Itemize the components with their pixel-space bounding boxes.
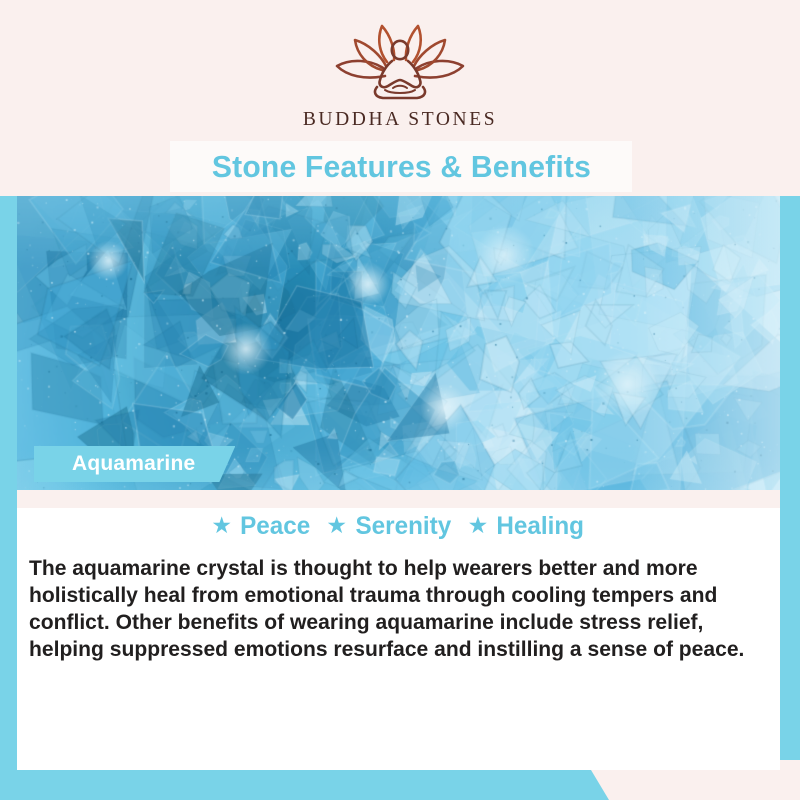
star-icon: ★ [468, 514, 489, 537]
keyword-label: Peace [240, 512, 310, 541]
decor-strip-left [0, 196, 17, 800]
header: BUDDHA STONES Stone Features & Benefits [0, 0, 800, 196]
stone-name-label: Aquamarine [72, 452, 195, 476]
keyword-label: Healing [497, 512, 585, 541]
stone-name-banner: Aquamarine [34, 446, 235, 482]
keyword-item-peace: ★ Peace [211, 512, 311, 541]
keyword-item-healing: ★ Healing [468, 512, 586, 541]
content-panel: ★ Peace ★ Serenity ★ Healing The aquamar… [17, 490, 780, 770]
infographic-page: BUDDHA STONES Stone Features & Benefits … [0, 0, 800, 800]
keyword-row: ★ Peace ★ Serenity ★ Healing [17, 512, 780, 541]
star-icon: ★ [326, 514, 347, 537]
page-title-banner: Stone Features & Benefits [170, 141, 632, 192]
lotus-meditation-figure-icon [325, 18, 475, 104]
decor-strip-bottom [0, 770, 800, 800]
aquamarine-crystal-photo [17, 196, 780, 490]
star-icon: ★ [211, 514, 232, 537]
brand-logo: BUDDHA STONES [0, 18, 800, 131]
keyword-item-serenity: ★ Serenity [326, 512, 452, 541]
brand-wordmark: BUDDHA STONES [303, 109, 497, 131]
description-text: The aquamarine crystal is thought to hel… [29, 555, 758, 663]
hero-image: Aquamarine [17, 196, 780, 490]
content-top-tint [17, 490, 780, 508]
page-title: Stone Features & Benefits [211, 149, 590, 185]
keyword-label: Serenity [355, 512, 451, 541]
